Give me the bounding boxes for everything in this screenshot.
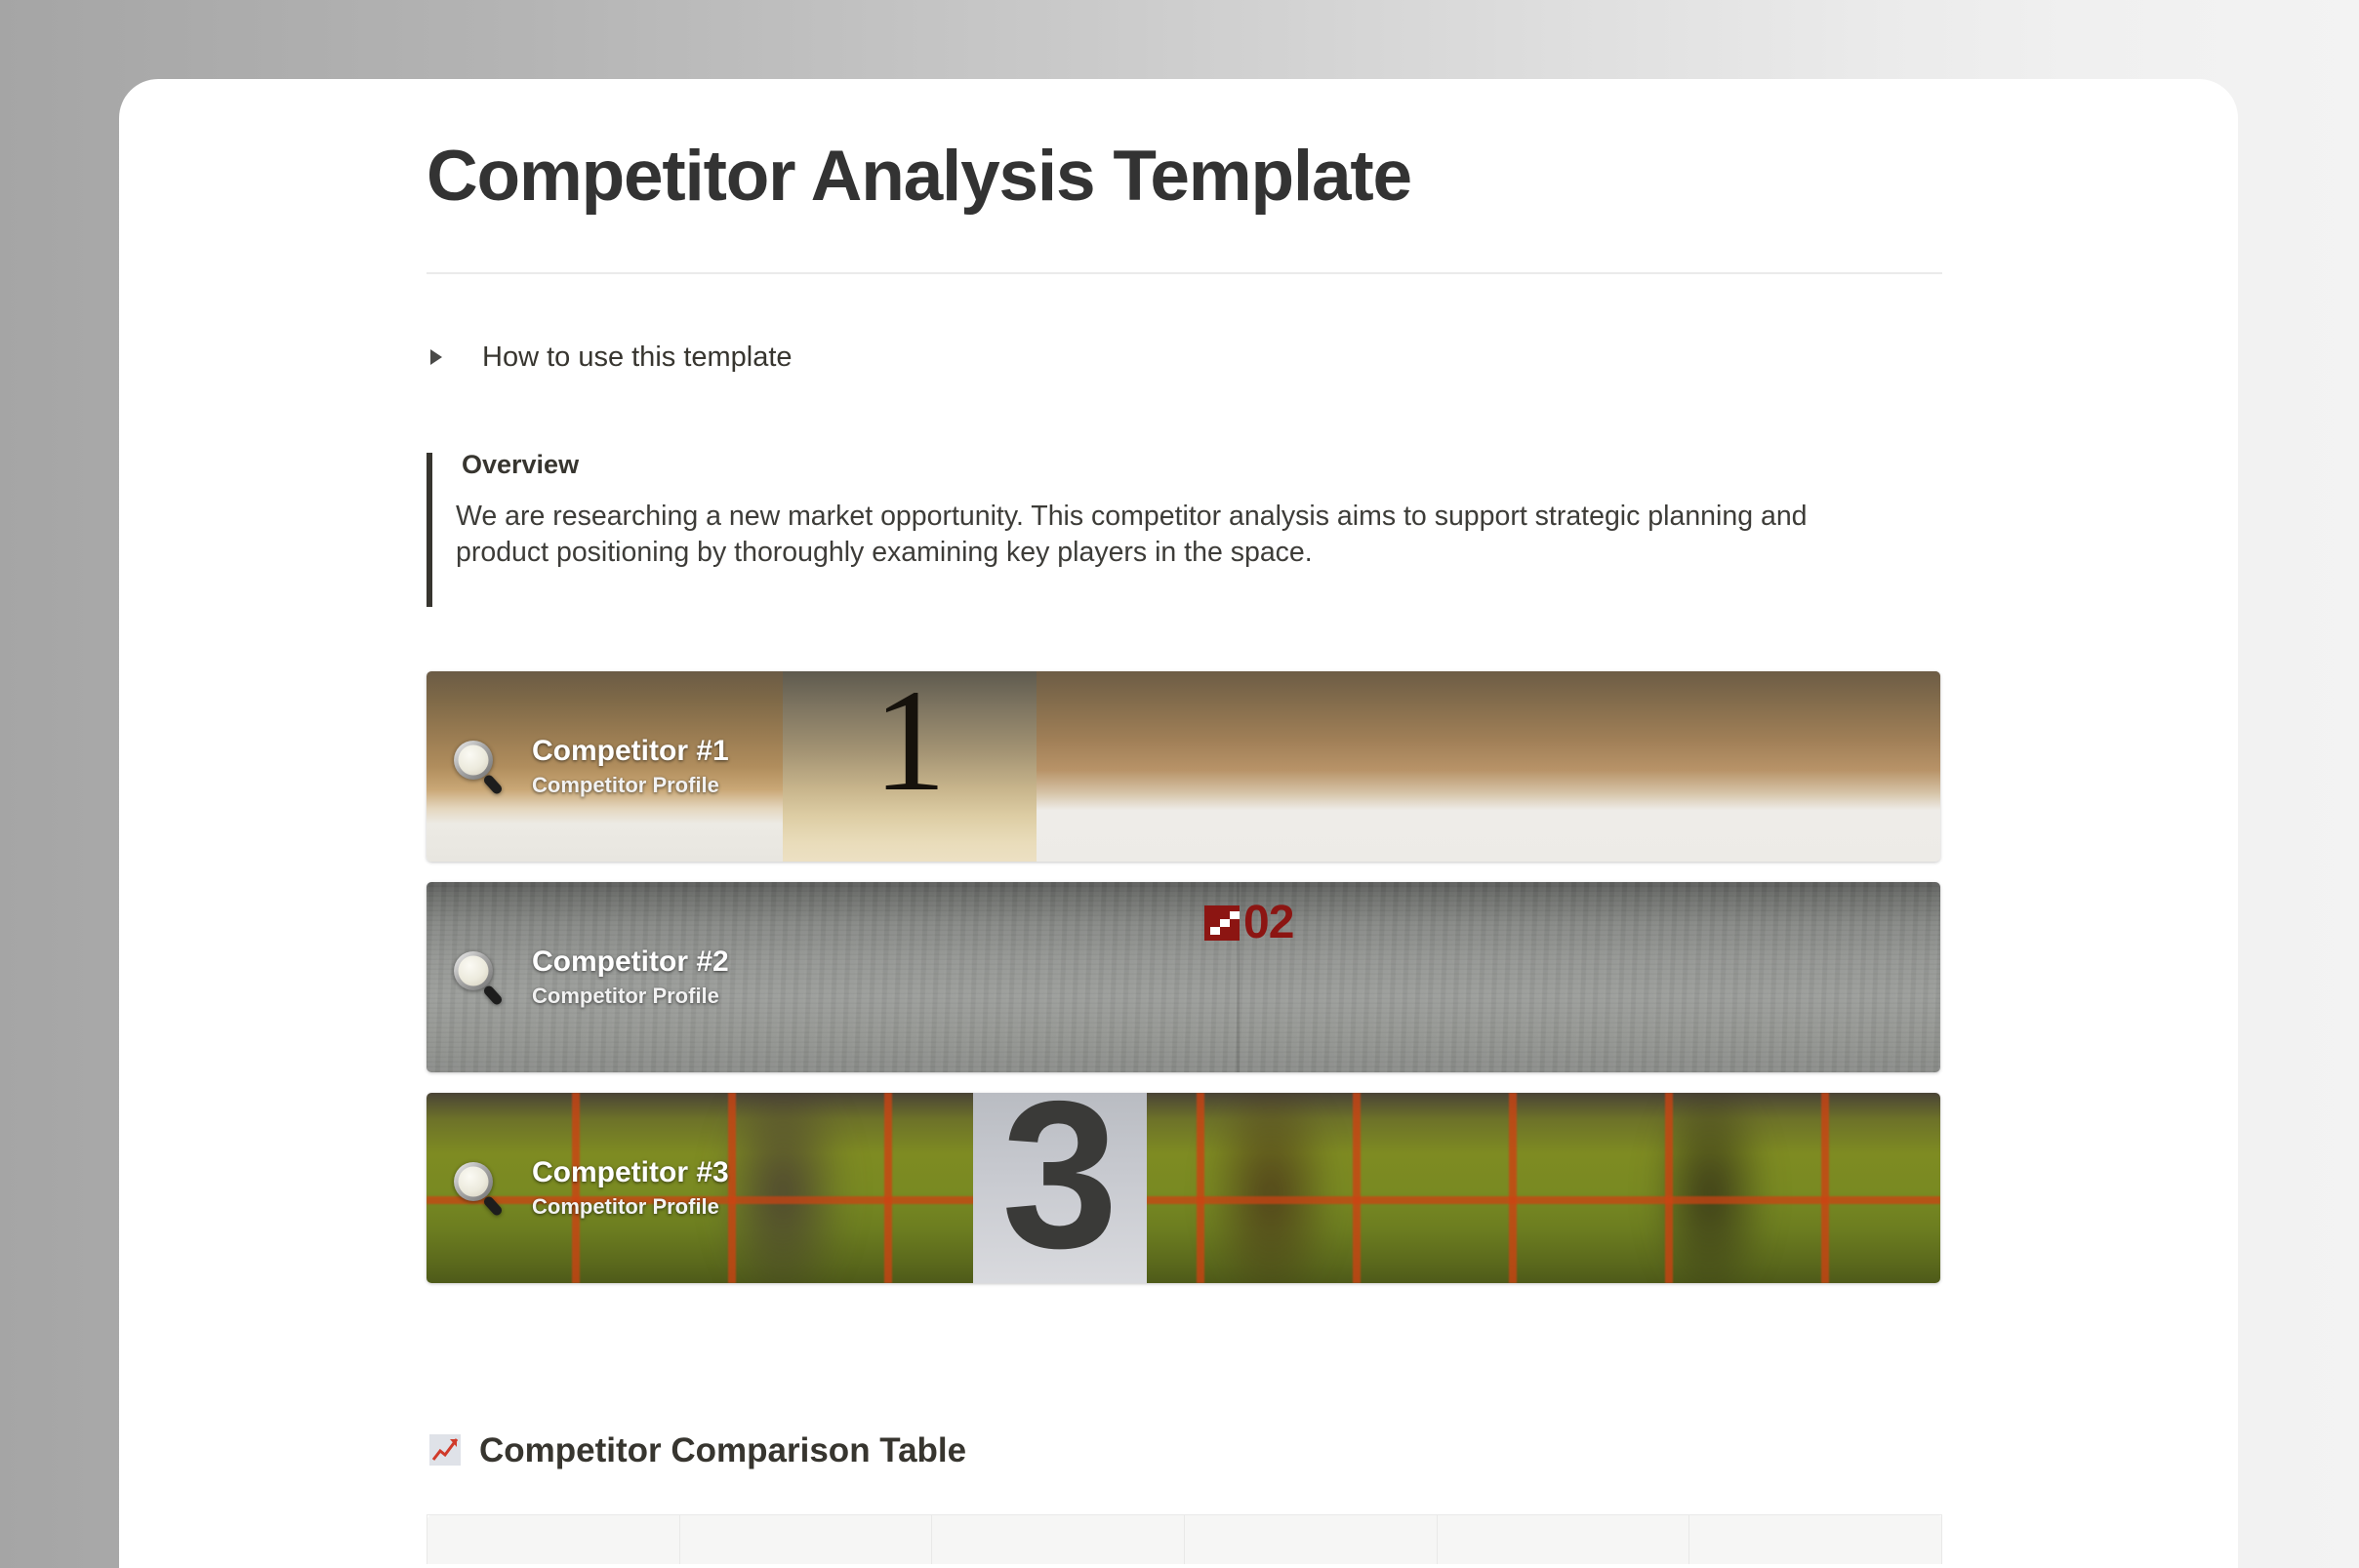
table-column-header[interactable] bbox=[932, 1515, 1185, 1564]
competitor-card-list: 1 bbox=[427, 671, 1942, 1283]
table-column-header[interactable] bbox=[1437, 1515, 1689, 1564]
comparison-table-heading-text: Competitor Comparison Table bbox=[479, 1433, 966, 1467]
card-content-3: Competitor #3 Competitor Profile bbox=[448, 1093, 729, 1283]
table-column-header[interactable] bbox=[679, 1515, 932, 1564]
competitor-card-3[interactable]: 3 Competitor #3 Competitor Profile bbox=[427, 1093, 1940, 1283]
page-title: Competitor Analysis Template bbox=[427, 79, 1942, 212]
magnifying-glass-icon bbox=[448, 1157, 510, 1220]
document-content-column: Competitor Analysis Template How to use … bbox=[427, 79, 1942, 1564]
competitor-card-2[interactable]: 02 Competitor #2 Competitor Profile bbox=[427, 882, 1940, 1072]
card-content-1: Competitor #1 Competitor Profile bbox=[448, 671, 729, 862]
magnifying-glass-icon bbox=[448, 736, 510, 798]
card-cover-numeral-panel-1: 1 bbox=[783, 671, 1037, 862]
overview-callout: Overview We are researching a new market… bbox=[427, 451, 1942, 607]
comparison-table[interactable] bbox=[427, 1514, 1942, 1564]
table-column-header[interactable] bbox=[1689, 1515, 1942, 1564]
table-column-header[interactable] bbox=[427, 1515, 680, 1564]
document-page: Competitor Analysis Template How to use … bbox=[119, 79, 2238, 1568]
card-cover-stair-sign-2: 02 bbox=[1204, 904, 1293, 944]
toggle-label: How to use this template bbox=[482, 343, 793, 372]
card-title-1: Competitor #1 bbox=[532, 737, 729, 766]
card-subtitle-1: Competitor Profile bbox=[532, 775, 729, 796]
chart-increasing-icon bbox=[427, 1431, 464, 1468]
overview-heading: Overview bbox=[456, 451, 1942, 480]
card-subtitle-2: Competitor Profile bbox=[532, 985, 729, 1007]
card-title-3: Competitor #3 bbox=[532, 1158, 729, 1187]
callout-accent-bar bbox=[427, 453, 432, 607]
magnifying-glass-icon bbox=[448, 946, 510, 1009]
stairs-sign-icon bbox=[1204, 905, 1240, 941]
card-subtitle-3: Competitor Profile bbox=[532, 1196, 729, 1218]
card-cover-numeral-2: 02 bbox=[1243, 904, 1293, 944]
table-header-row bbox=[427, 1515, 1942, 1564]
card-content-2: Competitor #2 Competitor Profile bbox=[448, 882, 729, 1072]
card-cover-numeral-3: 3 bbox=[973, 1093, 1147, 1279]
card-title-2: Competitor #2 bbox=[532, 947, 729, 977]
comparison-table-heading: Competitor Comparison Table bbox=[427, 1431, 1942, 1468]
card-cover-numeral-panel-3: 3 bbox=[973, 1093, 1147, 1283]
triangle-right-icon[interactable] bbox=[427, 349, 456, 365]
overview-body-text: We are researching a new market opportun… bbox=[456, 499, 1832, 572]
competitor-card-1[interactable]: 1 bbox=[427, 671, 1940, 862]
card-cover-numeral-1: 1 bbox=[783, 671, 1037, 862]
toggle-how-to-use-this-template[interactable]: How to use this template bbox=[427, 335, 1942, 380]
title-divider bbox=[427, 272, 1942, 274]
table-column-header[interactable] bbox=[1184, 1515, 1437, 1564]
